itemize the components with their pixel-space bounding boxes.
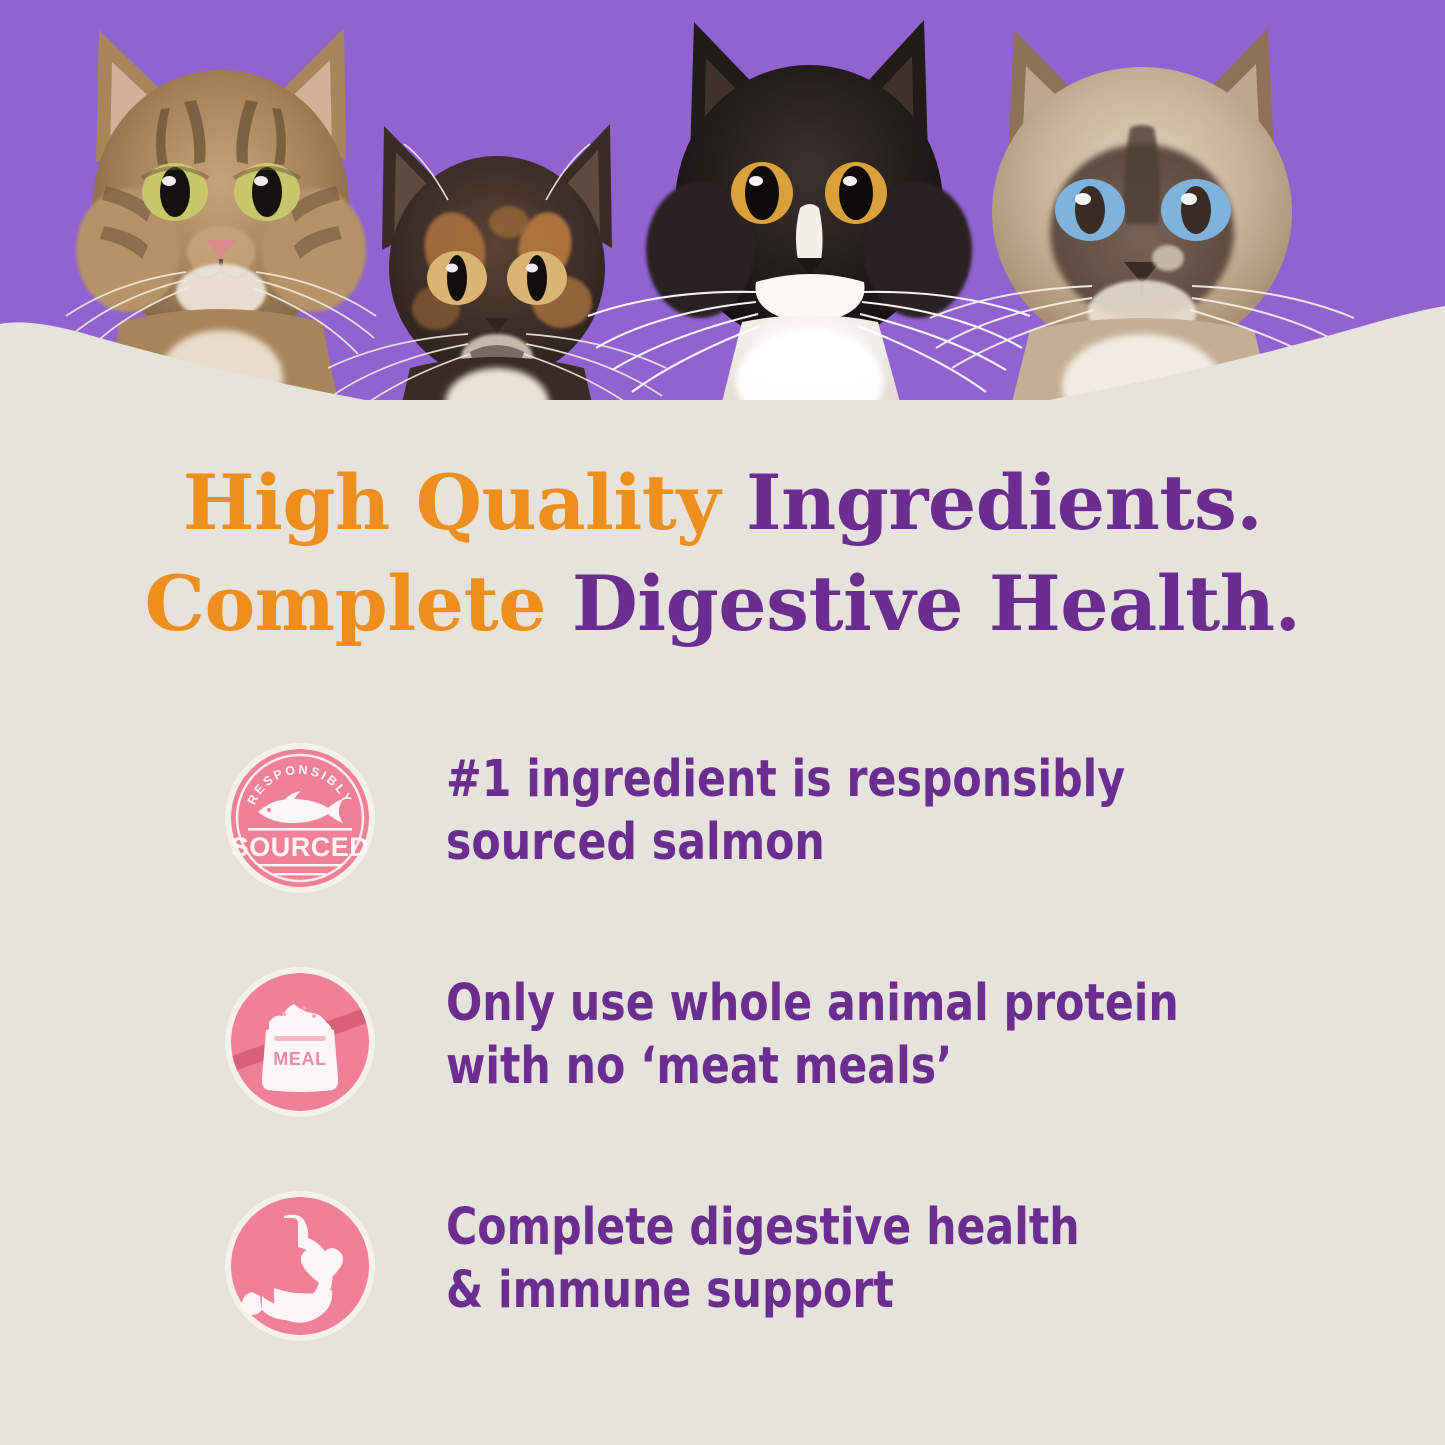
infographic-page: High Quality Ingredients. Complete Diges… <box>0 0 1445 1445</box>
stomach-heart-digestive-badge-icon <box>222 1188 378 1344</box>
list-item: Complete digestive health & immune suppo… <box>222 1188 1282 1412</box>
list-item-label: Complete digestive health & immune suppo… <box>446 1188 1223 1322</box>
list-item-label: Only use whole animal protein with no ‘m… <box>446 964 1223 1098</box>
cats-photo-group <box>0 0 1445 400</box>
headline-line-1: High Quality Ingredients. <box>0 452 1445 553</box>
list-item-label: #1 ingredient is responsibly sourced sal… <box>446 740 1223 874</box>
cat-brown-tabby <box>66 28 376 400</box>
badge-wrap: RESPONSIBLY SOURCED <box>222 740 378 896</box>
hero-banner <box>0 0 1445 400</box>
feature-list: RESPONSIBLY SOURCED #1 ingredient is res… <box>222 740 1282 1412</box>
headline-line-2-purple: Digestive Health. <box>572 559 1301 648</box>
no-meat-meal-sack-badge-icon: MEAL <box>222 964 378 1120</box>
list-item: MEAL Only use whole animal protein with … <box>222 964 1282 1188</box>
badge-wrap: MEAL <box>222 964 378 1120</box>
responsibly-sourced-fish-badge-icon: RESPONSIBLY SOURCED <box>222 740 378 896</box>
headline-line-1-purple: Ingredients. <box>746 458 1262 547</box>
badge-wrap <box>222 1188 378 1344</box>
cat-ragdoll <box>930 28 1354 400</box>
cat-tortoiseshell-kitten <box>328 124 666 400</box>
badge-main-label: MEAL <box>273 1049 326 1069</box>
list-item: RESPONSIBLY SOURCED #1 ingredient is res… <box>222 740 1282 964</box>
badge-main-label: SOURCED <box>231 832 370 862</box>
headline-line-2-orange: Complete <box>145 559 572 648</box>
page-title: High Quality Ingredients. Complete Diges… <box>0 452 1445 654</box>
headline-line-1-orange: High Quality <box>183 458 746 547</box>
headline-line-2: Complete Digestive Health. <box>0 553 1445 654</box>
cat-tuxedo <box>588 20 1030 400</box>
